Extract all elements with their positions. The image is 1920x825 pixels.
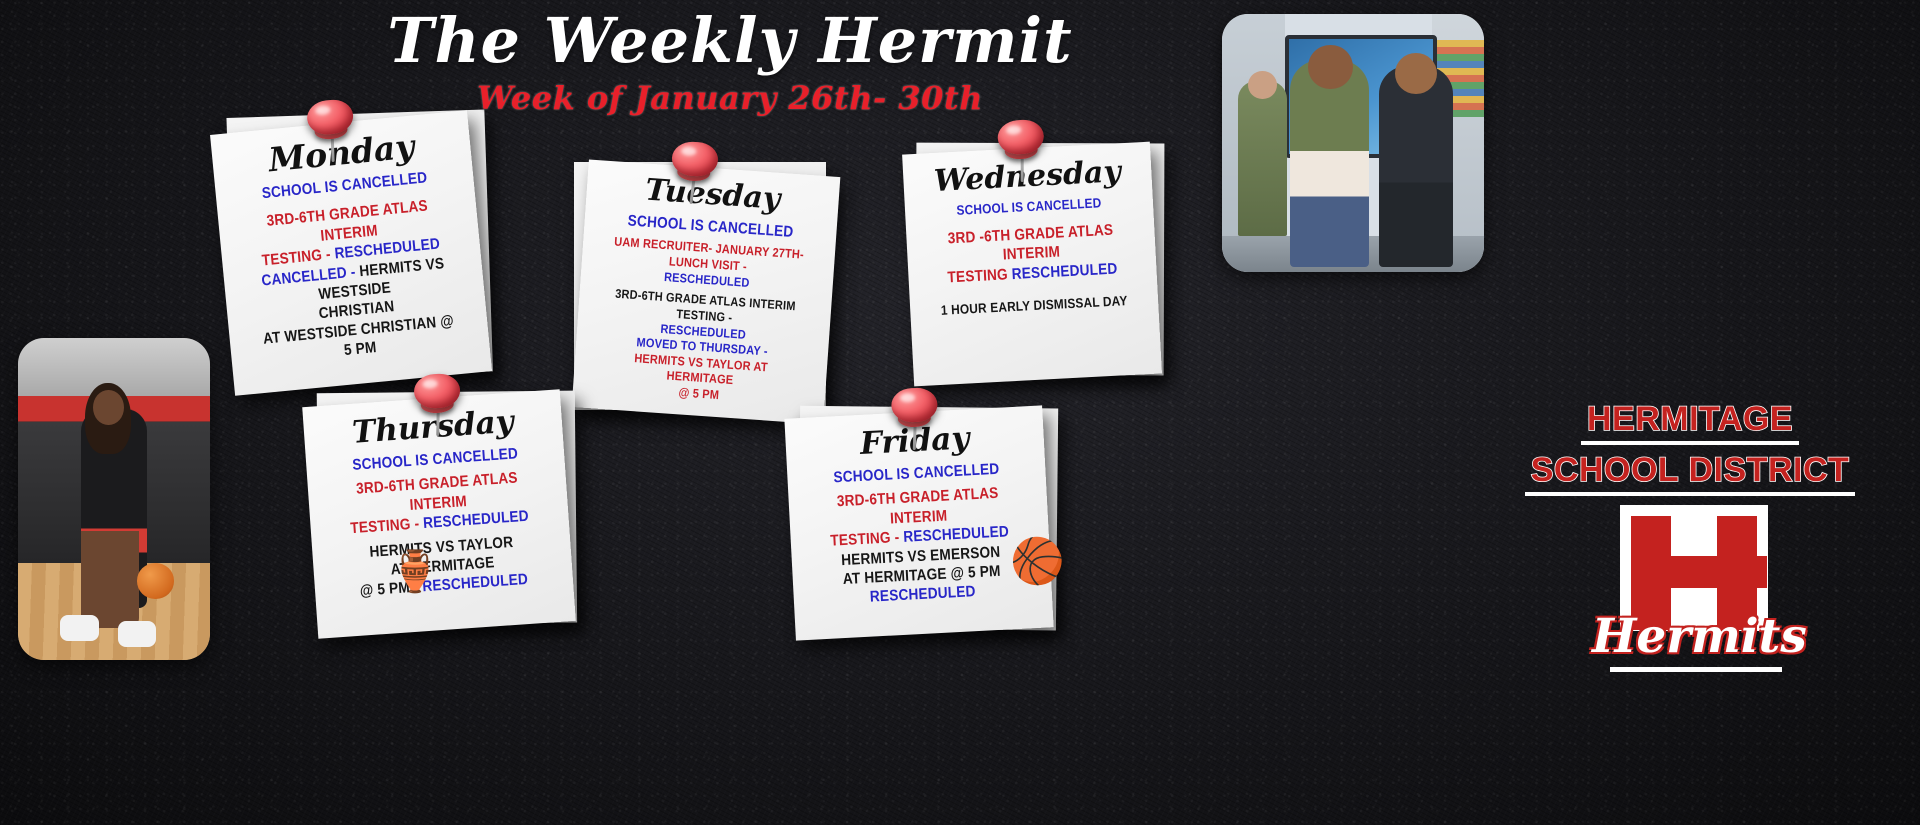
note-line-part: Testing - <box>830 529 904 550</box>
note-day-title: Wednesday <box>919 156 1136 197</box>
page-subtitle: Week of January 26th- 30th <box>0 79 1460 117</box>
note-card-monday[interactable]: Monday School is cancelled 3rd-6th Grade… <box>210 110 492 396</box>
note-card-friday[interactable]: Friday School is cancelled 3rd-6th Grade… <box>784 405 1053 640</box>
photo-basketball-player <box>18 338 210 660</box>
district-branding: Hermitage School District <box>1490 400 1890 502</box>
page-title: The Weekly Hermit <box>0 8 1460 73</box>
note-day-title: Friday <box>801 420 1028 463</box>
basketball-hoop-icon: 🏀 <box>1010 540 1065 584</box>
note-line-part: Testing - <box>350 515 424 537</box>
logo-script-text: Hermits <box>1592 609 1796 664</box>
district-name-line2: School District <box>1525 451 1856 496</box>
note-line-part: Rescheduled <box>1011 260 1118 283</box>
hermits-logo: Hermits <box>1592 505 1796 685</box>
newsletter-canvas: The Weekly Hermit Week of January 26th- … <box>0 0 1920 825</box>
note-card-wednesday[interactable]: Wednesday School is cancelled 3rd -6th G… <box>902 142 1162 387</box>
header: The Weekly Hermit Week of January 26th- … <box>0 8 1460 117</box>
note-card-tuesday[interactable]: Tuesday School is cancelled UAM Recruite… <box>572 160 841 425</box>
district-name-line1: Hermitage <box>1581 400 1799 445</box>
logo-underline <box>1610 667 1782 672</box>
note-card-thursday[interactable]: Thursday School is cancelled 3rd-6th Gra… <box>302 389 576 638</box>
trophy-icon: 🏺 <box>390 552 440 592</box>
note-line-part: Testing <box>947 266 1012 286</box>
